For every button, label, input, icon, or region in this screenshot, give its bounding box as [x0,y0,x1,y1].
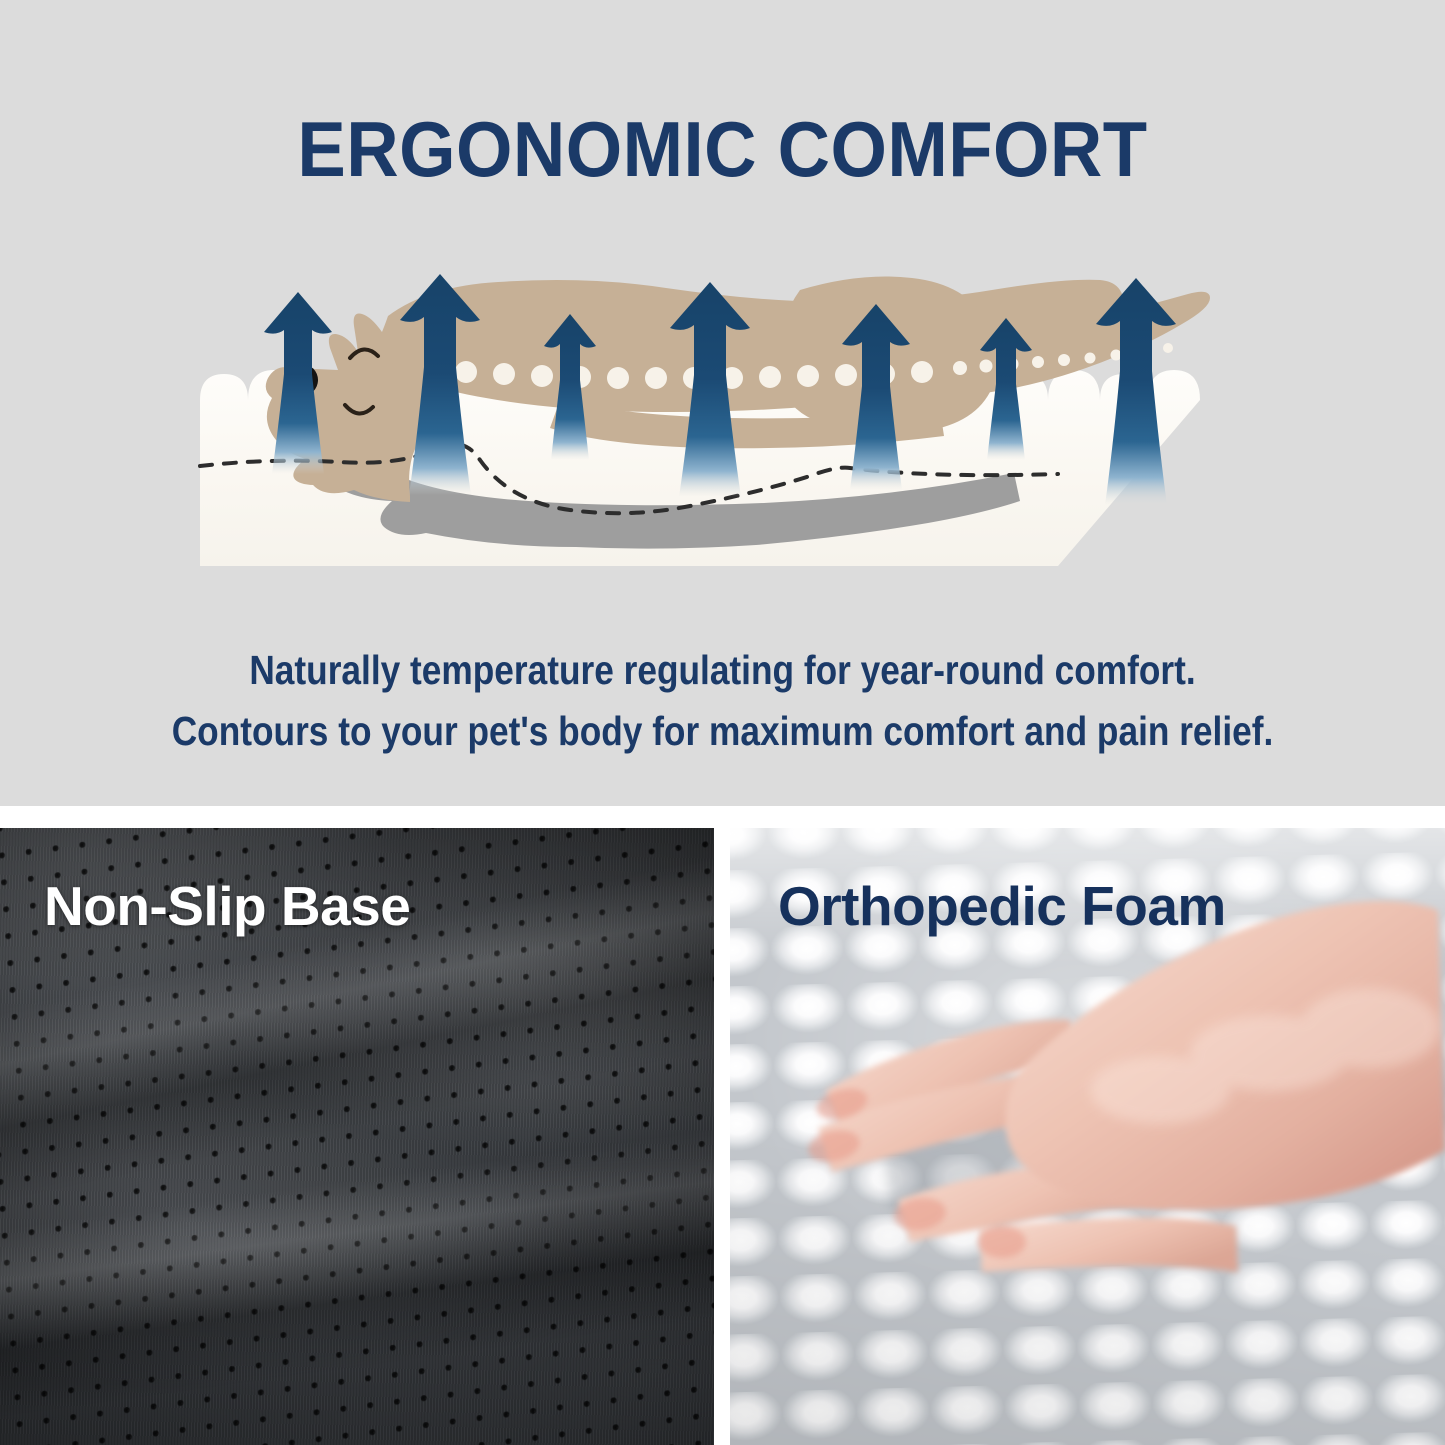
caption-line-1: Naturally temperature regulating for yea… [101,640,1344,701]
caption-line-2: Contours to your pet's body for maximum … [101,701,1344,762]
ergonomic-diagram-illustration [0,250,1445,630]
infographic-root: ERGONOMIC COMFORT [0,0,1445,1445]
panel-orthopedic-foam: Orthopedic Foam [730,828,1445,1445]
hero-caption: Naturally temperature regulating for yea… [101,640,1344,761]
page-title: ERGONOMIC COMFORT [51,110,1395,188]
vertical-divider [714,828,730,1445]
panel-label-non-slip-base: Non-Slip Base [44,874,410,938]
horizontal-divider [0,806,1445,828]
panel-label-orthopedic-foam: Orthopedic Foam [778,874,1226,938]
panel-non-slip-base: Non-Slip Base [0,828,714,1445]
hero-section: ERGONOMIC COMFORT [0,0,1445,806]
